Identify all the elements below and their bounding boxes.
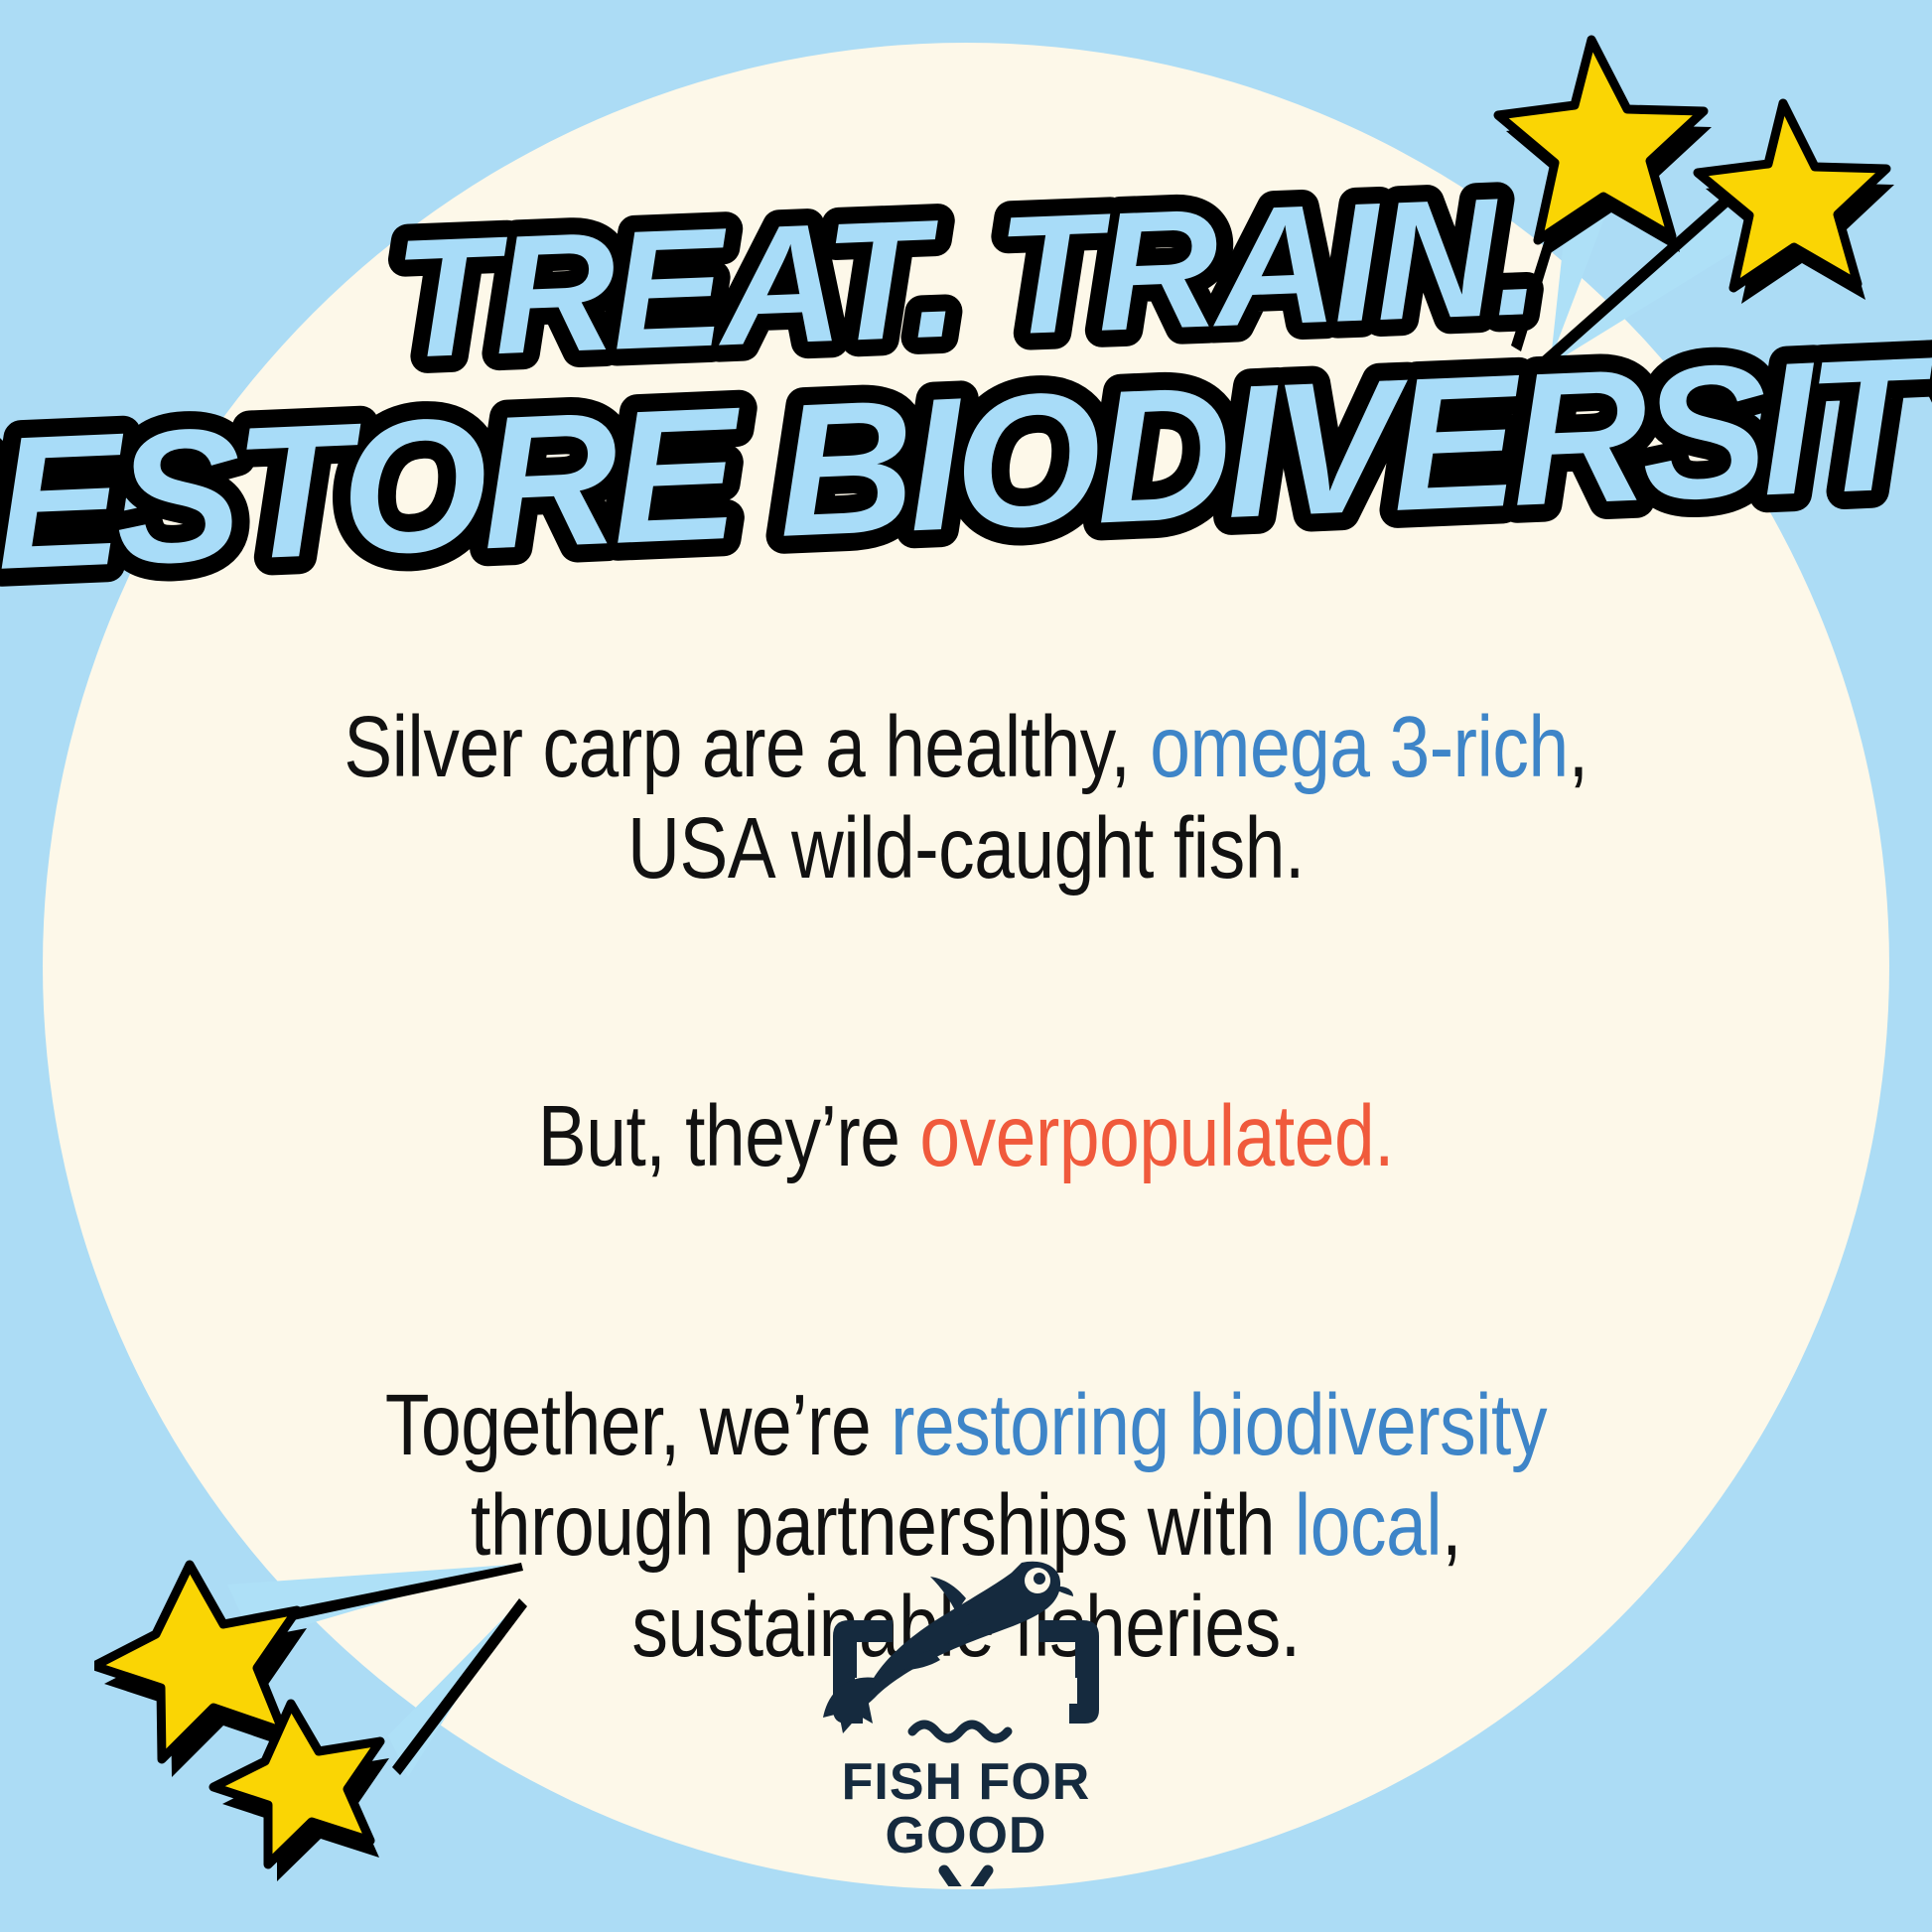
logo-mark: FISH FOR GOOD [817, 1529, 1115, 1886]
fish-for-good-logo[interactable]: FISH FOR GOOD [817, 1529, 1115, 1886]
shooting-star-icon [1465, 10, 1932, 427]
para-1-seg-0: Silver carp are a healthy, [344, 699, 1150, 795]
jumping-fish-icon [823, 1562, 1073, 1733]
paragraph-2: But, they’re overpopulated. [254, 985, 1677, 1187]
water-wave-icon [912, 1725, 1008, 1738]
shooting-stars-top-right [1465, 10, 1932, 427]
para-3-seg-3-local: local [1295, 1477, 1442, 1574]
paragraph-1: Silver carp are a healthy, omega 3-rich,… [254, 596, 1677, 898]
para-2-seg-0: But, they’re [538, 1088, 919, 1184]
poster-canvas: TREAT. TRAIN. TREAT. TRAIN. RESTORE BIOD… [0, 0, 1932, 1932]
para-2-seg-1-overpopulated: overpopulated. [919, 1088, 1394, 1184]
para-3-seg-1-restoring: restoring biodiversity [891, 1377, 1547, 1473]
bracket-right-icon [1039, 1620, 1099, 1678]
logo-text-line-2: GOOD [886, 1807, 1047, 1864]
para-3-seg-0: Together, we’re [385, 1377, 891, 1473]
chevron-down-icon [944, 1870, 988, 1886]
para-1-seg-1-omega: omega 3-rich [1150, 699, 1568, 795]
logo-text-line-1: FISH FOR [842, 1753, 1091, 1811]
